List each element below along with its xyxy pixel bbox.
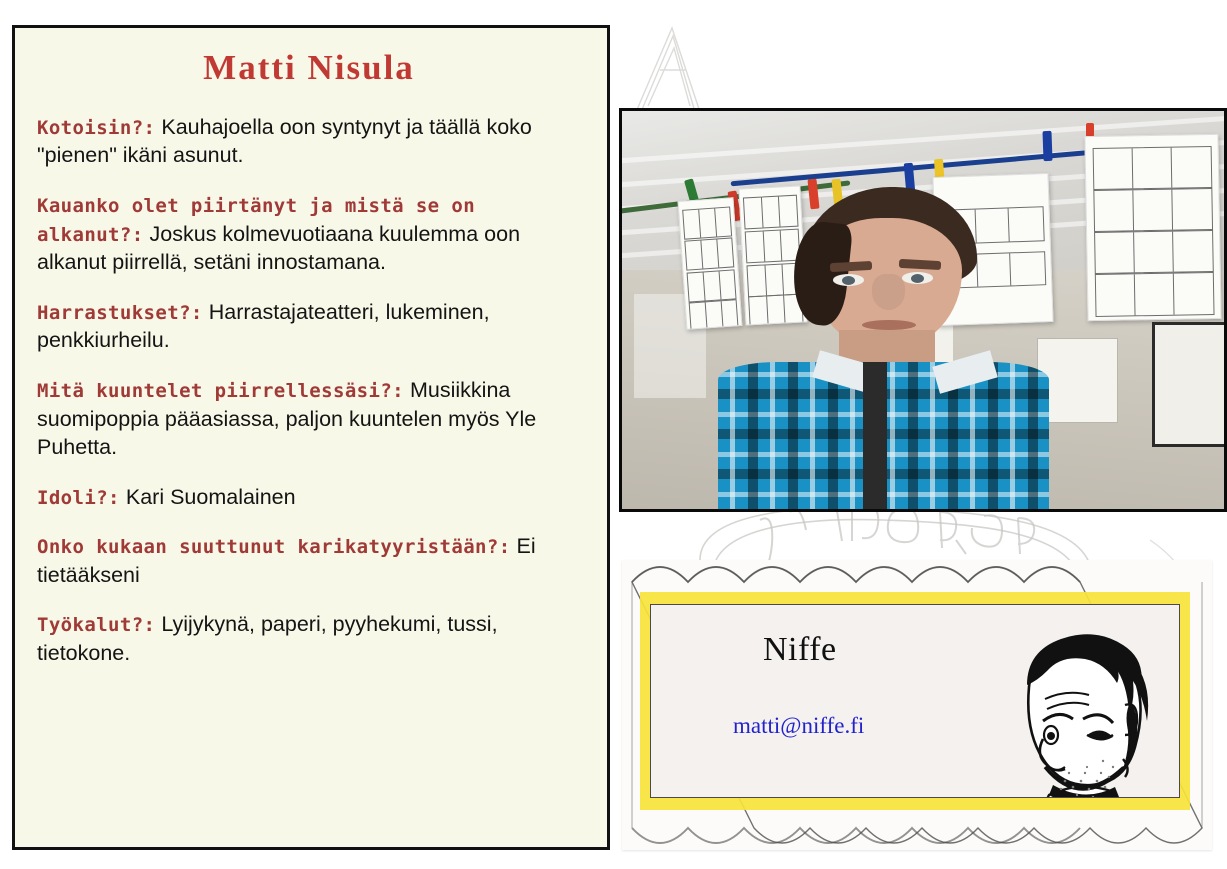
question-label: Kotoisin?: bbox=[37, 117, 155, 139]
question-label: Onko kukaan suuttunut karikatyyristään?: bbox=[37, 536, 511, 558]
qa-item-mita-kuuntelet: Mitä kuuntelet piirrellessäsi?: Musiikki… bbox=[37, 376, 581, 462]
question-label: Harrastukset?: bbox=[37, 302, 203, 324]
caricature-portrait-icon bbox=[991, 609, 1171, 798]
qa-item-karikatyyri: Onko kukaan suuttunut karikatyyristään?:… bbox=[37, 532, 581, 589]
photo-subject-eye bbox=[833, 274, 864, 286]
comic-page bbox=[678, 197, 743, 330]
question-answer: Kari Suomalainen bbox=[126, 485, 296, 509]
page-root: Matti Nisula Kotoisin?: Kauhajoella oon … bbox=[0, 0, 1227, 869]
comic-page bbox=[1084, 134, 1222, 321]
wall-poster bbox=[1037, 338, 1117, 424]
qa-item-kauanko-piirtanyt: Kauanko olet piirtänyt ja mistä se on al… bbox=[37, 191, 581, 277]
qa-item-idoli: Idoli?: Kari Suomalainen bbox=[37, 483, 581, 512]
question-label: Työkalut?: bbox=[37, 614, 155, 636]
clothespin-blue bbox=[1043, 131, 1053, 161]
question-label: Mitä kuuntelet piirrellessäsi?: bbox=[37, 380, 404, 402]
qa-item-harrastukset: Harrastukset?: Harrastajateatteri, lukem… bbox=[37, 298, 581, 355]
photo-subject-nose bbox=[872, 274, 905, 310]
page-title: Matti Nisula bbox=[37, 50, 581, 87]
question-label: Idoli?: bbox=[37, 487, 120, 509]
interview-panel: Matti Nisula Kotoisin?: Kauhajoella oon … bbox=[12, 25, 610, 850]
card-email[interactable]: matti@niffe.fi bbox=[733, 713, 864, 739]
business-card: Niffe matti@niffe.fi bbox=[622, 560, 1212, 850]
card-name: Niffe bbox=[763, 631, 837, 669]
card-face: Niffe matti@niffe.fi bbox=[650, 604, 1180, 798]
photo-content bbox=[622, 111, 1224, 509]
portrait-photo bbox=[619, 108, 1227, 512]
clothespin-red bbox=[1086, 123, 1094, 137]
shirt-placket bbox=[863, 362, 887, 509]
qa-item-kotoisin: Kotoisin?: Kauhajoella oon syntynyt ja t… bbox=[37, 113, 581, 170]
qa-item-tyokalut: Työkalut?: Lyijykynä, paperi, pyyhekumi,… bbox=[37, 610, 581, 667]
framed-picture bbox=[1152, 322, 1224, 447]
